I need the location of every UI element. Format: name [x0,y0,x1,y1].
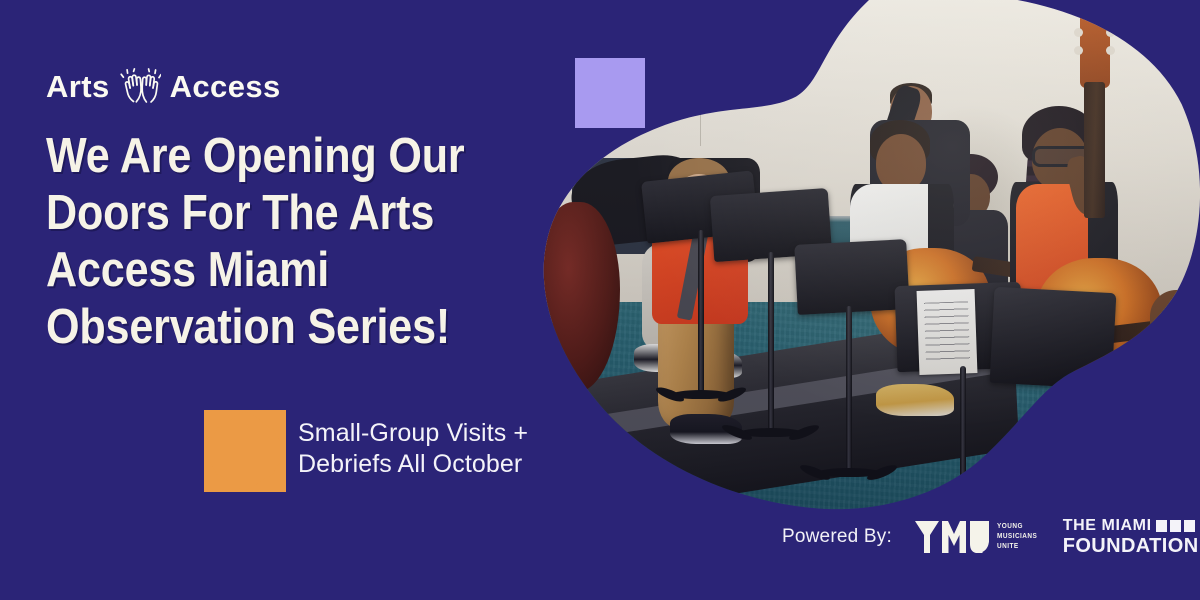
hand-right-edge [1150,290,1200,350]
sheet-music-1 [917,289,978,375]
ymu-wordmark-line-1: YOUNG [997,523,1037,531]
ymu-wordmark-line-3: UNITE [997,543,1037,551]
miami-foundation-line-1: THE MIAMI [1063,518,1152,534]
music-stand-foot-2 [740,428,802,437]
figure-student-white-polo [870,120,970,226]
ymu-logo: YOUNG MUSICIANS UNITE [914,520,1041,554]
ymu-wordmark: YOUNG MUSICIANS UNITE [997,523,1041,551]
headline-line-3: Access Miami [46,242,468,299]
clapping-hands-icon [119,68,161,104]
miami-foundation-squares-icon [1156,520,1195,532]
purple-squircle-decoration [575,58,645,128]
music-stand-desk-5 [990,287,1117,389]
headline-line-2: Doors For The Arts [46,185,468,242]
music-stand-foot-1 [672,390,730,399]
ymu-wordmark-line-2: MUSICIANS [997,533,1037,541]
subtitle: Small-Group Visits + Debriefs All Octobe… [298,418,528,480]
wall-seam [700,0,701,146]
footer-sponsors: Powered By: YOUNG MUSICIANS UNITE [782,518,1199,556]
music-stand-pole-2 [768,252,774,432]
page-title: We Are Opening Our Doors For The Arts Ac… [46,128,468,356]
acoustic-guitar-neck [1084,82,1105,218]
ymu-mark-icon [914,520,990,554]
music-stand-pole-1 [698,230,704,394]
subtitle-line-2: Debriefs All October [298,449,528,480]
subtitle-line-1: Small-Group Visits + [298,418,528,449]
orange-squircle-decoration [204,410,286,492]
guitar-headstock [1080,14,1110,88]
music-stand-desk-3 [794,239,910,315]
brand-word-access: Access [170,71,281,102]
brand-word-arts: Arts [46,71,110,102]
powered-by-label: Powered By: [782,526,892,548]
brand-lockup: Arts [46,68,281,104]
headline-line-1: We Are Opening Our [46,128,468,185]
miami-foundation-logo: THE MIAMI FOUNDATION [1063,518,1199,556]
headline-line-4: Observation Series! [46,299,468,356]
music-stand-foot-3 [818,468,880,477]
music-stand-pole-3 [846,306,852,472]
miami-foundation-top-row: THE MIAMI [1063,518,1199,534]
miami-foundation-line-2: FOUNDATION [1063,536,1199,556]
music-stand-pole-4 [960,366,966,486]
poster-canvas: Arts [0,0,1200,600]
